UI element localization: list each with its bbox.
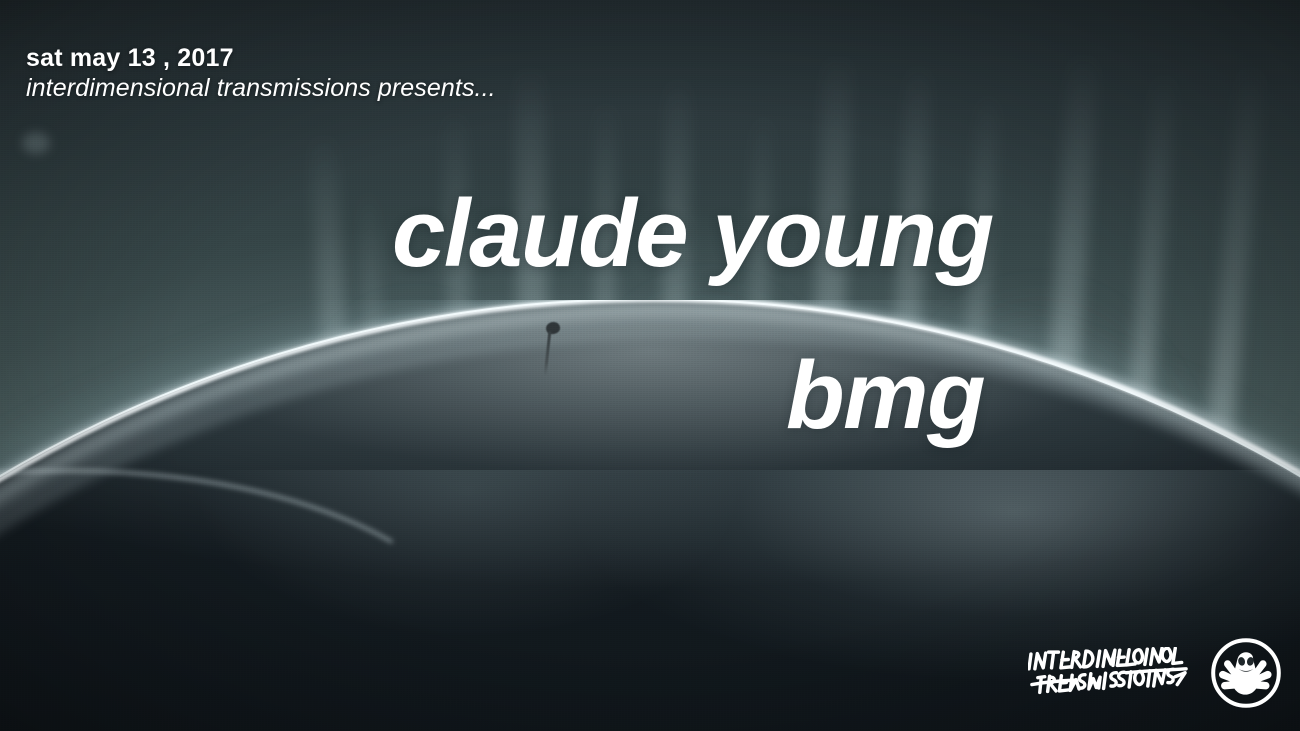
flyer-header: sat may 13 , 2017 interdimensional trans… bbox=[26, 44, 496, 104]
artist-name-primary: claude young bbox=[392, 186, 993, 282]
logo-wordmark-handwritten bbox=[1028, 647, 1190, 699]
interdimensional-transmissions-logo: INTERDIMENSIONAL TRANSMISSIONS bbox=[1028, 633, 1286, 713]
event-flyer: sat may 13 , 2017 interdimensional trans… bbox=[0, 0, 1300, 731]
text-overlay: sat may 13 , 2017 interdimensional trans… bbox=[0, 0, 1300, 731]
presenter-line: interdimensional transmissions presents.… bbox=[26, 74, 496, 104]
artist-name-secondary: bmg bbox=[786, 348, 984, 444]
alien-hand-circle-icon bbox=[1206, 633, 1286, 713]
event-date: sat may 13 , 2017 bbox=[26, 44, 496, 72]
